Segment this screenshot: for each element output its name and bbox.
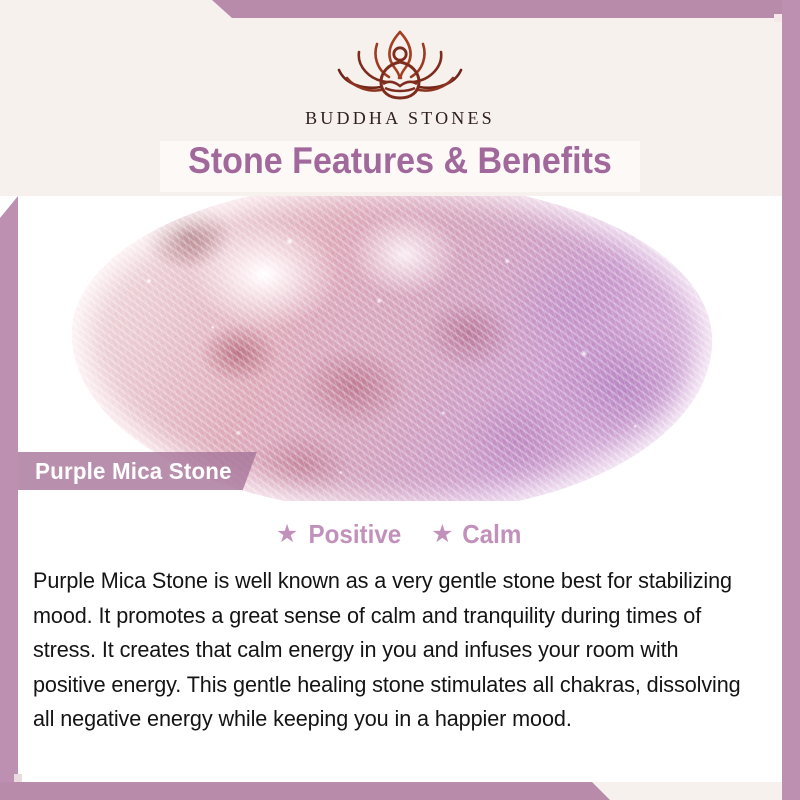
header-section: BUDDHA STONES Stone Features & Benefits [0, 0, 800, 196]
description-panel: ★ Positive ★ Calm Purple Mica Stone is w… [0, 501, 800, 782]
lotus-meditation-icon [315, 22, 485, 104]
frame-left-border [0, 196, 18, 800]
frame-corner-top-right [774, 14, 782, 22]
brand-name: BUDDHA STONES [305, 108, 495, 129]
frame-bottom-border [0, 782, 800, 800]
star-icon: ★ [276, 522, 298, 547]
page-title: Stone Features & Benefits [32, 140, 768, 182]
frame-corner-bottom-left [14, 774, 22, 782]
benefit-tag: ★ Calm [431, 519, 524, 550]
description-text: Purple Mica Stone is well known as a ver… [33, 564, 742, 737]
frame-right-border [782, 0, 800, 800]
product-name-banner: Purple Mica Stone [18, 452, 257, 490]
brand-logo: BUDDHA STONES [0, 22, 800, 129]
benefit-tag: ★ Positive [276, 519, 405, 550]
star-icon: ★ [431, 522, 453, 547]
benefit-tag-label: Positive [309, 519, 402, 550]
product-name-label: Purple Mica Stone [35, 458, 232, 485]
benefit-tag-label: Calm [463, 519, 522, 550]
benefit-tags: ★ Positive ★ Calm [0, 519, 800, 550]
